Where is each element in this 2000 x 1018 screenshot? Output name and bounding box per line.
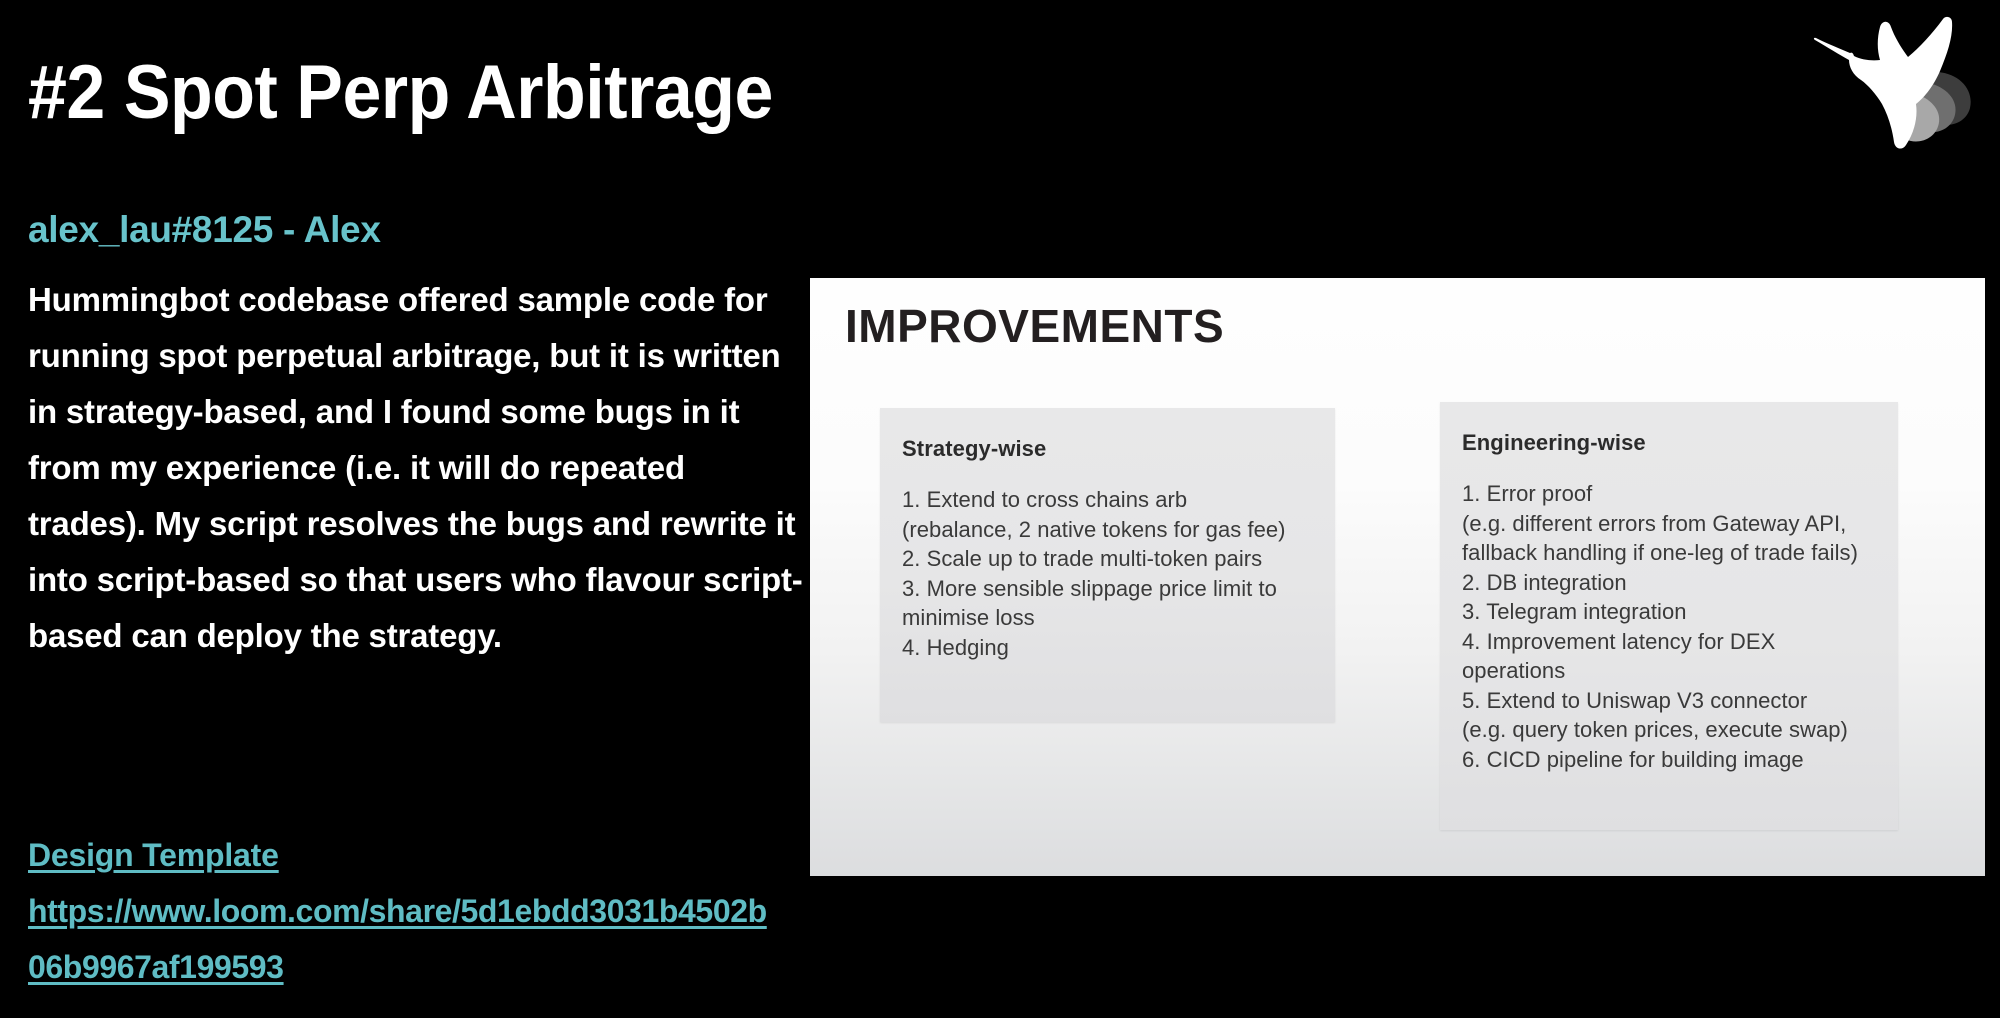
page-title: #2 Spot Perp Arbitrage bbox=[28, 52, 773, 134]
slide-preview[interactable]: IMPROVEMENTS Strategy-wise 1. Extend to … bbox=[810, 278, 1985, 876]
list-item: 3. More sensible slippage price limit to… bbox=[902, 574, 1317, 633]
description-paragraph: Hummingbot codebase offered sample code … bbox=[28, 272, 808, 664]
list-item: 6. CICD pipeline for building image bbox=[1462, 745, 1880, 775]
card-strategy-wise: Strategy-wise 1. Extend to cross chains … bbox=[880, 408, 1335, 722]
slide-heading: IMPROVEMENTS bbox=[845, 298, 1224, 354]
card-list-strategy: 1. Extend to cross chains arb (rebalance… bbox=[880, 463, 1335, 662]
author-handle: alex_lau#8125 - Alex bbox=[28, 208, 381, 252]
hummingbot-logo bbox=[1792, 8, 1982, 158]
list-item: 5. Extend to Uniswap V3 connector (e.g. … bbox=[1462, 686, 1880, 745]
list-item: 4. Improvement latency for DEX operation… bbox=[1462, 627, 1880, 686]
list-item: 2. Scale up to trade multi-token pairs bbox=[902, 544, 1317, 574]
design-template-link[interactable]: Design Template bbox=[28, 827, 279, 883]
presentation-slide-page: #2 Spot Perp Arbitrage alex_lau#8125 - A… bbox=[0, 0, 2000, 1018]
loom-share-url-link[interactable]: https://www.loom.com/share/5d1ebdd3031b4… bbox=[28, 883, 773, 995]
card-list-engineering: 1. Error proof (e.g. different errors fr… bbox=[1440, 457, 1898, 774]
list-item: 1. Error proof (e.g. different errors fr… bbox=[1462, 479, 1880, 568]
link-block: Design Template https://www.loom.com/sha… bbox=[28, 827, 818, 995]
card-heading-strategy: Strategy-wise bbox=[880, 408, 1335, 463]
left-content-column: #2 Spot Perp Arbitrage alex_lau#8125 - A… bbox=[28, 0, 818, 1018]
list-item: 2. DB integration bbox=[1462, 568, 1880, 598]
list-item: 3. Telegram integration bbox=[1462, 597, 1880, 627]
card-heading-engineering: Engineering-wise bbox=[1440, 402, 1898, 457]
list-item: 1. Extend to cross chains arb (rebalance… bbox=[902, 485, 1317, 544]
list-item: 4. Hedging bbox=[902, 633, 1317, 663]
card-engineering-wise: Engineering-wise 1. Error proof (e.g. di… bbox=[1440, 402, 1898, 830]
